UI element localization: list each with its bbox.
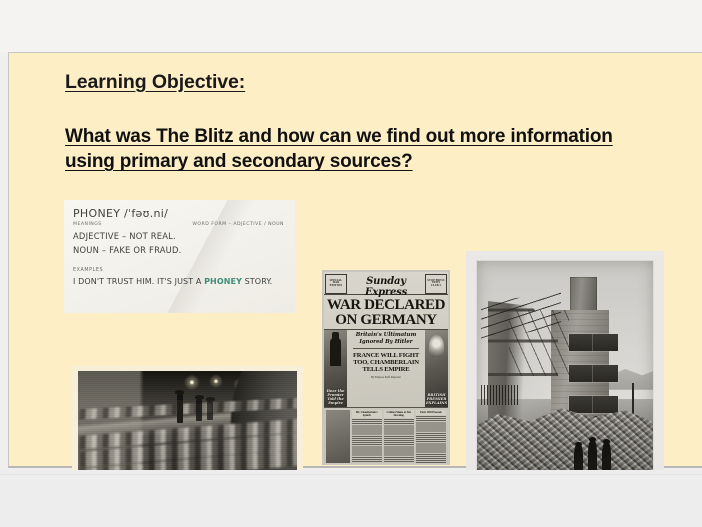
presentation-slide: Learning Objective: What was The Blitz a…: [8, 52, 702, 468]
newspaper-left-photo-caption: Hear the Premier Told the Empire: [324, 389, 347, 405]
canvas-top-margin: [0, 0, 702, 52]
newspaper-body-text: [384, 418, 415, 463]
bomb-damaged-building-image: Imperial War Museum: [466, 251, 664, 496]
headline-line-2: ON GERMANY: [325, 313, 447, 328]
photo-grain-overlay: [78, 371, 297, 485]
headline-line-1: WAR DECLARED: [325, 298, 447, 313]
newspaper-stop-press-box: STOP PRESS NEWS CLUB 2: [425, 274, 447, 295]
newspaper-headline: WAR DECLARED ON GERMANY: [324, 295, 448, 330]
divider: [0, 474, 702, 475]
newspaper-title: Sunday Express: [348, 276, 424, 298]
photo-vignette: [477, 261, 653, 483]
newspaper-special-edition-box: SPECIAL WAR EDITION: [325, 274, 347, 295]
example-highlight-word: PHONEY: [204, 277, 242, 286]
sunday-express-front-page-image: SPECIAL WAR EDITION Sunday Express No. 1…: [322, 270, 450, 465]
newspaper-text-column: Cabinet Meets at Ten Downing: [384, 410, 415, 463]
newspaper-upper-section: Hear the Premier Told the Empire Britain…: [324, 330, 448, 408]
newspaper-page: SPECIAL WAR EDITION Sunday Express No. 1…: [324, 272, 448, 463]
newspaper-text-column: Paris Will Proceed: [416, 410, 447, 463]
phoney-dictionary-definition-image: PHONEY /ˈfəʊ.ni/ MEANINGS WORD FORM – AD…: [64, 200, 295, 313]
newspaper-premier-portrait: BRITISH PREMIER EXPLAINS: [425, 330, 448, 407]
newspaper-rule: [353, 348, 419, 349]
slide-viewport: Learning Objective: What was The Blitz a…: [0, 0, 702, 527]
dictionary-headword: PHONEY /ˈfəʊ.ni/: [73, 207, 290, 220]
dictionary-examples-label: EXAMPLES: [73, 268, 290, 273]
newspaper-body-text: [352, 418, 383, 463]
dictionary-example-sentence: I DON'T TRUST HIM. IT'S JUST A PHONEY ST…: [73, 277, 290, 286]
newspaper-right-photo-caption: BRITISH PREMIER EXPLAINS: [425, 393, 448, 405]
newspaper-column-subhead: Mr. Chamberlain's Speech: [352, 410, 383, 418]
dictionary-definition-noun: NOUN – FAKE OR FRAUD.: [73, 245, 290, 255]
newspaper-text-column: Mr. Chamberlain's Speech: [352, 410, 383, 463]
newspaper-centre-column: Britain's Ultimatum Ignored By Hitler FR…: [347, 330, 425, 407]
shelter-photo-content: [78, 371, 297, 485]
newspaper-column-subhead: Cabinet Meets at Ten Downing: [384, 410, 415, 418]
newspaper-byline: By Express Staff Reporter: [349, 376, 423, 379]
building-photo-content: Imperial War Museum: [477, 261, 653, 483]
special-edition-line: EDITION: [330, 285, 343, 288]
dictionary-meanings-label: MEANINGS: [73, 222, 102, 227]
photo-mount: Imperial War Museum: [476, 260, 654, 484]
learning-objective-question: What was The Blitz and how can we find o…: [65, 124, 650, 174]
newspaper-lower-photo: F.C.: [326, 410, 350, 463]
newspaper-chamberlain-photo: Hear the Premier Told the Empire: [324, 330, 347, 407]
dictionary-definition-adjective: ADJECTIVE – NOT REAL.: [73, 231, 290, 241]
newspaper-subheadline-bold: FRANCE WILL FIGHT TOO, CHAMBERLAIN TELLS…: [349, 352, 423, 374]
newspaper-subheadline-italic: Britain's Ultimatum Ignored By Hitler: [349, 332, 423, 345]
stop-press-line: CLUB 2: [431, 285, 441, 288]
newspaper-body-columns: F.C. Mr. Chamberlain's Speech Cabinet Me…: [324, 408, 448, 463]
slide-heading-block: Learning Objective: What was The Blitz a…: [65, 71, 665, 175]
newspaper-body-text: [416, 415, 447, 463]
example-prefix: I DON'T TRUST HIM. IT'S JUST A: [73, 277, 204, 286]
newspaper-masthead: Sunday Express No. 1,000: [348, 274, 424, 295]
canvas-bottom-margin: [0, 470, 702, 527]
example-suffix: STORY.: [242, 277, 272, 286]
page-title: Learning Objective:: [65, 71, 665, 94]
newspaper-masthead-bar: SPECIAL WAR EDITION Sunday Express No. 1…: [324, 272, 448, 295]
dictionary-word-form-label: WORD FORM – ADJECTIVE / NOUN: [192, 222, 284, 227]
